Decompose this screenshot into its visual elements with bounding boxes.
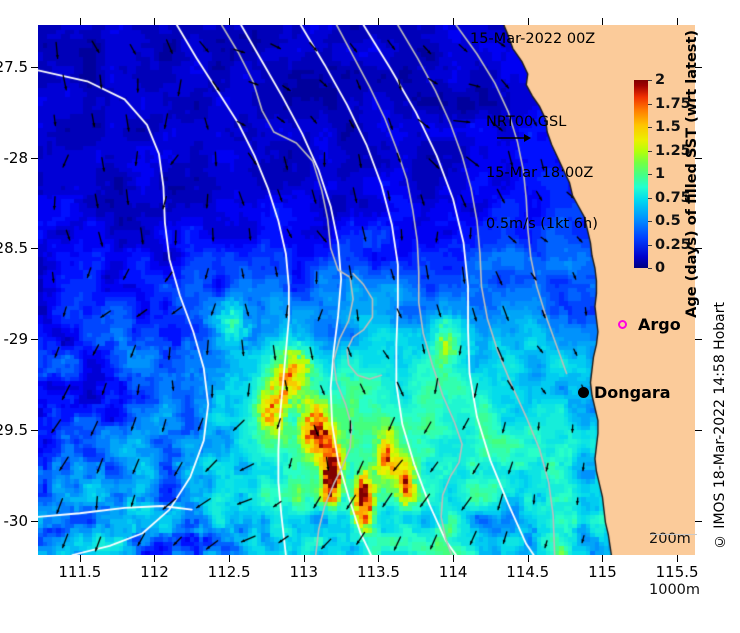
x-tick <box>80 18 81 25</box>
x-tick <box>453 555 454 562</box>
colorbar-tick <box>648 174 652 175</box>
x-tick <box>677 18 678 25</box>
x-tick <box>154 555 155 562</box>
depth-contour-legend: 200m 1000m <box>649 497 700 633</box>
x-tick-label: 111.5 <box>58 563 101 581</box>
x-tick <box>378 555 379 562</box>
argo-legend-item: Argo <box>618 315 681 334</box>
depth-legend-1000m: 1000m <box>649 582 700 599</box>
argo-marker-icon <box>618 320 627 329</box>
y-tick <box>31 521 38 522</box>
y-tick <box>31 339 38 340</box>
y-tick <box>695 339 702 340</box>
colorbar-tick-label: 0.5 <box>655 213 681 229</box>
x-tick <box>304 555 305 562</box>
y-tick <box>695 430 702 431</box>
colorbar-tick <box>648 198 652 199</box>
x-tick-label: 114 <box>439 563 468 581</box>
x-tick <box>229 18 230 25</box>
x-tick-label: 113.5 <box>357 563 400 581</box>
dongara-label: Dongara <box>594 383 671 402</box>
vector-legend: NRT00 GSL 15-Mar 18:00Z 0.5m/s (1kt 6h) <box>486 80 598 267</box>
x-tick-label: 113 <box>289 563 318 581</box>
x-tick-label: 112.5 <box>208 563 251 581</box>
colorbar-tick <box>648 268 652 269</box>
y-tick <box>31 67 38 68</box>
y-tick-label: -28.5 <box>0 239 28 257</box>
copyright-text: © IMOS 18-Mar-2022 14:58 Hobart <box>712 302 728 549</box>
vector-legend-line3: 0.5m/s (1kt 6h) <box>486 216 598 233</box>
y-tick <box>31 248 38 249</box>
date-stamp: 15-Mar-2022 00Z <box>470 31 595 48</box>
colorbar-tick <box>648 80 652 81</box>
colorbar-tick <box>648 104 652 105</box>
y-tick-label: -29 <box>4 330 29 348</box>
x-tick <box>602 555 603 562</box>
x-tick <box>378 18 379 25</box>
x-tick-label: 114.5 <box>506 563 549 581</box>
x-tick <box>453 18 454 25</box>
x-tick <box>304 18 305 25</box>
colorbar-tick <box>648 151 652 152</box>
x-tick-label: 115 <box>588 563 617 581</box>
x-tick <box>602 18 603 25</box>
x-tick <box>154 18 155 25</box>
colorbar-gradient <box>634 80 648 268</box>
y-tick-label: -28 <box>4 149 29 167</box>
y-tick <box>31 158 38 159</box>
vector-legend-line2: 15-Mar 18:00Z <box>486 165 598 182</box>
colorbar-tick <box>648 245 652 246</box>
colorbar-tick-label: 2 <box>655 72 665 88</box>
argo-legend-label: Argo <box>638 315 681 334</box>
dongara-dot-icon <box>578 387 589 398</box>
figure-canvas: 15-Mar-2022 00Z NRT00 GSL 15-Mar 18:00Z … <box>0 0 740 592</box>
colorbar-tick-label: 0 <box>655 260 665 276</box>
x-tick <box>528 18 529 25</box>
vector-legend-line1: NRT00 GSL <box>486 114 598 131</box>
x-tick <box>528 555 529 562</box>
colorbar-tick-label: 1 <box>655 166 665 182</box>
y-tick-label: -29.5 <box>0 421 28 439</box>
colorbar-tick <box>648 127 652 128</box>
colorbar-tick <box>648 221 652 222</box>
y-tick <box>31 430 38 431</box>
x-tick <box>80 555 81 562</box>
y-tick-label: -27.5 <box>0 58 28 76</box>
dongara-place-marker: Dongara <box>578 383 671 402</box>
colorbar-tick-label: 1.5 <box>655 119 681 135</box>
vector-scale-arrow-icon <box>497 132 531 144</box>
x-tick <box>229 555 230 562</box>
colorbar-title: Age (days) of filled SST (wrt latest) <box>684 30 700 318</box>
y-tick-label: -30 <box>4 512 29 530</box>
x-tick-label: 112 <box>140 563 169 581</box>
depth-legend-rule <box>651 534 697 535</box>
